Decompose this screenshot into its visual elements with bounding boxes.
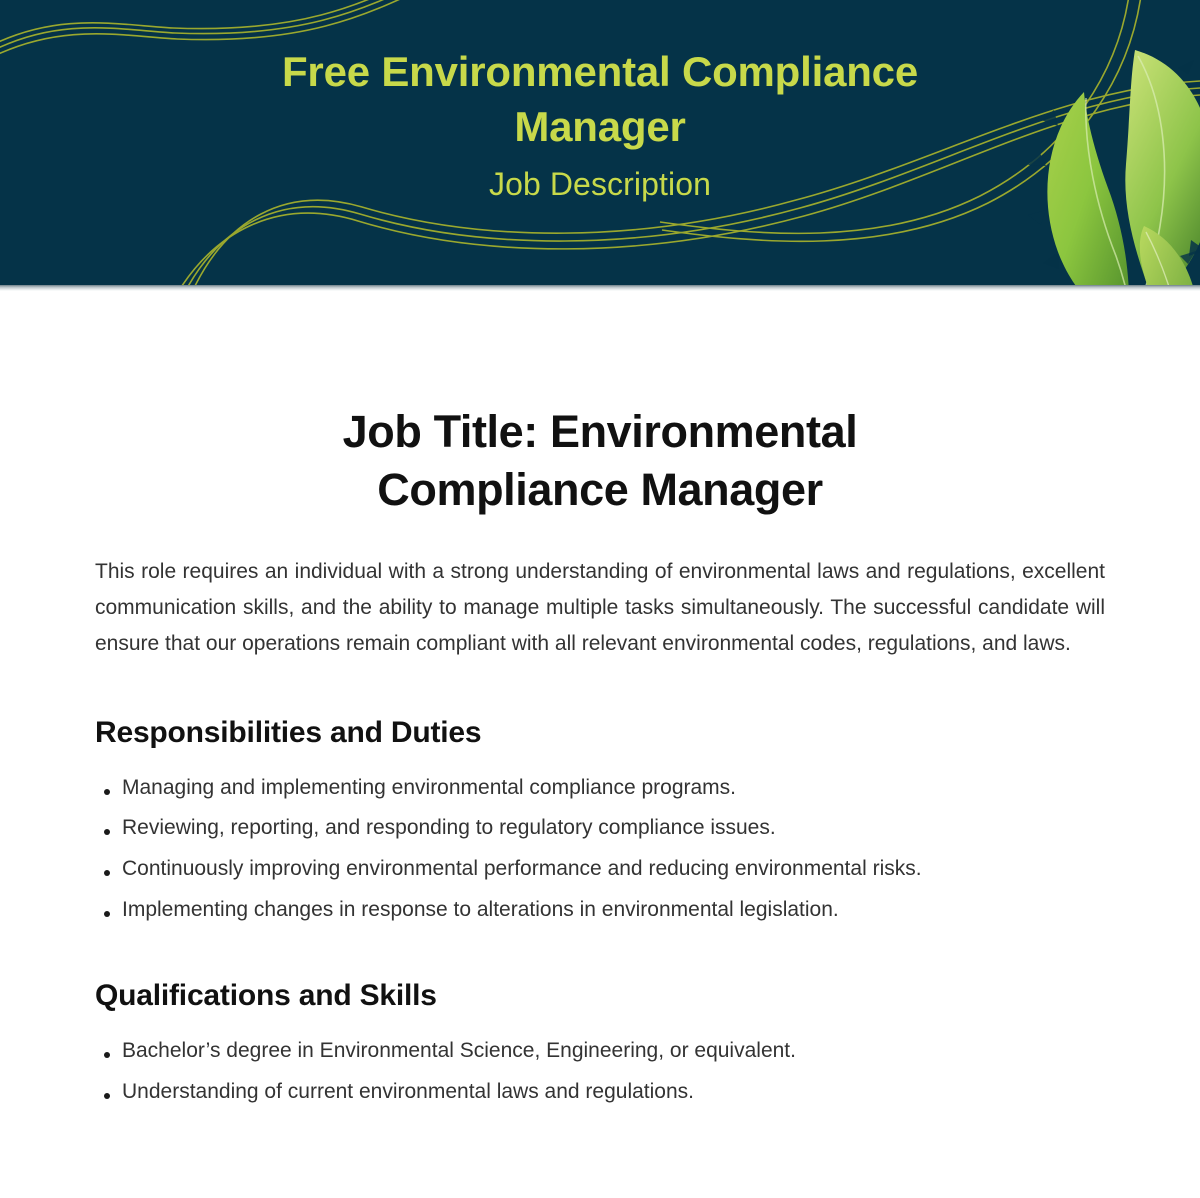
list-item: Reviewing, reporting, and responding to … [95,812,1105,844]
intro-paragraph: This role requires an individual with a … [95,554,1105,662]
section-heading-qualifications: Qualifications and Skills [95,979,1105,1013]
document-page: Free Environmental Compliance Manager Jo… [0,0,1200,1198]
page-title: Job Title: Environmental Compliance Mana… [255,403,945,518]
swoosh-icon-topleft [0,0,432,58]
banner-decoration [0,0,1200,285]
section-qualifications: Qualifications and Skills Bachelor’s deg… [95,979,1105,1108]
document-body: Job Title: Environmental Compliance Mana… [0,285,1200,1198]
swoosh-icon-bottom [178,81,1200,285]
qualifications-list: Bachelor’s degree in Environmental Scien… [95,1035,1105,1108]
list-item: Understanding of current environmental l… [95,1076,1105,1108]
list-item: Managing and implementing environmental … [95,772,1105,804]
section-heading-responsibilities: Responsibilities and Duties [95,716,1105,750]
list-item: Implementing changes in response to alte… [95,894,1105,926]
responsibilities-list: Managing and implementing environmental … [95,772,1105,927]
list-item: Continuously improving environmental per… [95,853,1105,885]
banana-leaf-icon [1028,50,1200,285]
list-item: Bachelor’s degree in Environmental Scien… [95,1035,1105,1067]
section-responsibilities: Responsibilities and Duties Managing and… [95,716,1105,927]
header-banner: Free Environmental Compliance Manager Jo… [0,0,1200,285]
